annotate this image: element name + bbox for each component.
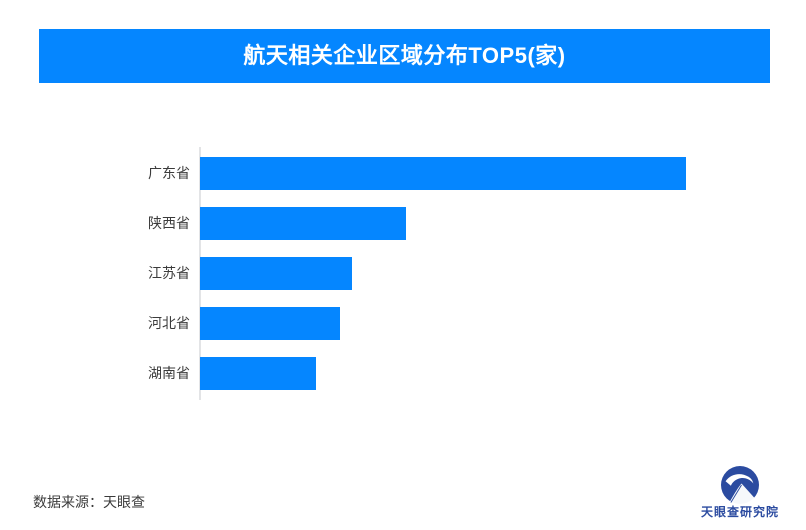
tianyancha-swoosh-icon xyxy=(721,466,759,504)
bar-rect[interactable] xyxy=(200,207,406,240)
bar-rect[interactable] xyxy=(200,357,316,390)
bar-category-label: 陕西省 xyxy=(60,207,190,240)
data-source-note: 数据来源：天眼查 xyxy=(33,492,145,512)
bar-row: 河北省 xyxy=(0,307,806,340)
page-title: 航天相关企业区域分布TOP5(家) xyxy=(243,45,565,67)
chart-canvas: 航天相关企业区域分布TOP5(家) 广东省 陕西省 江苏省 河北省 湖南省 xyxy=(0,0,806,530)
brand-logo: 天眼查研究院 xyxy=(688,466,792,522)
chart-plot-area: 广东省 陕西省 江苏省 河北省 湖南省 xyxy=(0,140,806,410)
bar-row: 陕西省 xyxy=(0,207,806,240)
title-banner: 航天相关企业区域分布TOP5(家) xyxy=(39,29,770,83)
bar-rect[interactable] xyxy=(200,257,352,290)
bar-category-label: 湖南省 xyxy=(60,357,190,390)
bar-series: 广东省 陕西省 江苏省 河北省 湖南省 xyxy=(0,140,806,410)
brand-wordmark: 天眼查研究院 xyxy=(701,505,779,519)
bar-row: 广东省 xyxy=(0,157,806,190)
bar-row: 江苏省 xyxy=(0,257,806,290)
bar-rect[interactable] xyxy=(200,157,686,190)
bar-rect[interactable] xyxy=(200,307,340,340)
bar-row: 湖南省 xyxy=(0,357,806,390)
bar-category-label: 河北省 xyxy=(60,307,190,340)
bar-category-label: 广东省 xyxy=(60,157,190,190)
bar-category-label: 江苏省 xyxy=(60,257,190,290)
